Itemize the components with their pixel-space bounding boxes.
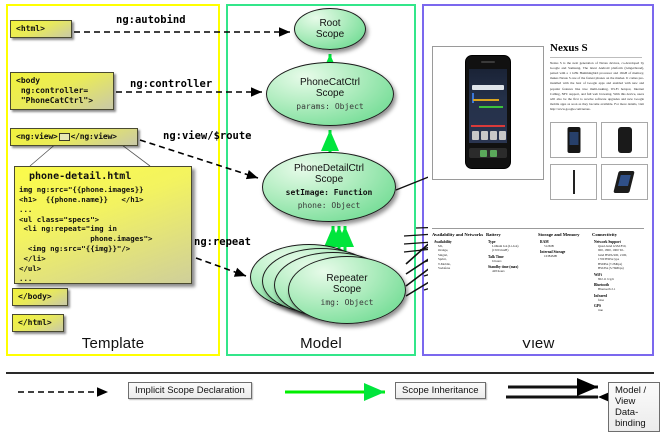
body-close-tag: </body> [12,288,68,306]
phone-accent-blue [472,93,474,103]
ngview-close-label: </ng:view> [71,132,117,141]
thumbnail-phone-angle[interactable] [601,164,648,200]
phone-detail-note: phone-detail.html img ng:src="{{phone.im… [14,166,192,284]
legend-model-view-databinding: Model / View Data-binding [508,382,660,432]
label-ng-controller: ng:controller [130,78,212,90]
phone-dock-buttons [469,148,507,158]
spec-header-connectivity: Connectivity [592,232,642,238]
view-rendered-page: Nexus S Nexus S is the next generation o… [428,10,648,340]
spec-table: Availability and Networks Availability M… [432,232,644,313]
phone-urlbar [472,85,504,90]
scope-root-name1: Root [319,18,340,29]
phone-app-icons [472,131,506,140]
scope-repeater-name1: Repeater [326,273,367,284]
scope-cat-name1: PhoneCatCtrl [300,77,360,88]
legend-divider [6,372,654,374]
legend-scope-inheritance: Scope Inheritance [285,382,486,399]
scope-detail-prop-setimage: setImage: Function [286,188,373,198]
phone-device-icon [465,55,511,169]
phone-accent-red [471,125,505,127]
scope-detail-name2: Scope [315,174,343,185]
spec-column-availability: Availability and Networks Availability M… [432,232,486,313]
spec-header-availability: Availability and Networks [432,232,484,238]
ngview-open-label: <ng:view> [16,132,58,141]
thumbnail-phone-side[interactable] [550,164,597,200]
scope-phonedetailctrl: PhoneDetailCtrl Scope setImage: Function… [262,152,396,222]
scope-repeater-prop-img: img: Object [321,298,374,308]
scope-repeater-name2: Scope [333,284,361,295]
scope-cat-name2: Scope [316,88,344,99]
note-code: img ng:src="{{phone.images}} <h1> {{phon… [15,185,191,283]
scope-repeater: Repeater Scope img: Object [288,256,406,324]
spec-header-battery: Battery [486,232,536,238]
scope-detail-name1: PhoneDetailCtrl [294,163,364,174]
note-title: phone-detail.html [15,167,191,185]
html-open-tag: <html> [10,20,72,38]
scope-detail-prop-phone: phone: Object [298,201,361,211]
thumbnail-phone-back[interactable] [601,122,648,158]
spec-header-storage: Storage and Memory [538,232,590,238]
scope-cat-prop-params: params: Object [296,102,363,112]
spec-values-availability: M1,Orange,Singtel,Sprint,T-Mobile,Vodafo… [432,244,484,271]
thumbnail-phone-front[interactable] [550,122,597,158]
label-ng-repeat: ng:repeat [194,236,251,248]
spec-column-storage: Storage and Memory RAM 512MB Internal St… [538,232,592,313]
spec-table-divider [432,228,644,229]
legend-implicit-scope-declaration: Implicit Scope Declaration [18,382,252,399]
scope-phonecatctrl: PhoneCatCtrl Scope params: Object [266,62,394,126]
view-title-divider [550,57,642,58]
diagram-root: Template Model View [0,0,660,420]
label-ng-autobind: ng:autobind [116,14,186,26]
ngview-placeholder-icon [59,133,70,141]
label-ng-view-route: ng:view/$route [163,130,252,142]
phone-accent-green [479,106,503,108]
legend-inheritance-label: Scope Inheritance [395,382,486,399]
view-thumbnail-grid [550,122,646,200]
phone-accent-yellow [473,99,499,101]
phone-screen [469,69,507,143]
html-close-tag: </html> [12,314,64,332]
view-phone-title: Nexus S [550,42,588,54]
phone-speaker-icon [481,61,495,63]
body-open-tag: <body ng:controller= "PhoneCatCtrl"> [10,72,114,110]
spec-column-connectivity: Connectivity Network Support Quad-band G… [592,232,644,313]
ngview-tag: <ng:view></ng:view> [10,128,138,146]
phone-hero-image [432,46,544,180]
scope-root: Root Scope [294,8,366,50]
view-phone-description: Nexus S is the next generation of Nexus … [550,61,644,112]
panel-model-label: Model [228,335,414,352]
legend-implicit-label: Implicit Scope Declaration [128,382,252,399]
panel-template-label: Template [8,335,218,352]
spec-column-battery: Battery Type Lithium Ion (Li-Ion)(1500 m… [486,232,538,313]
scope-root-name2: Scope [316,29,344,40]
legend-binding-label: Model / View Data-binding [608,382,660,432]
